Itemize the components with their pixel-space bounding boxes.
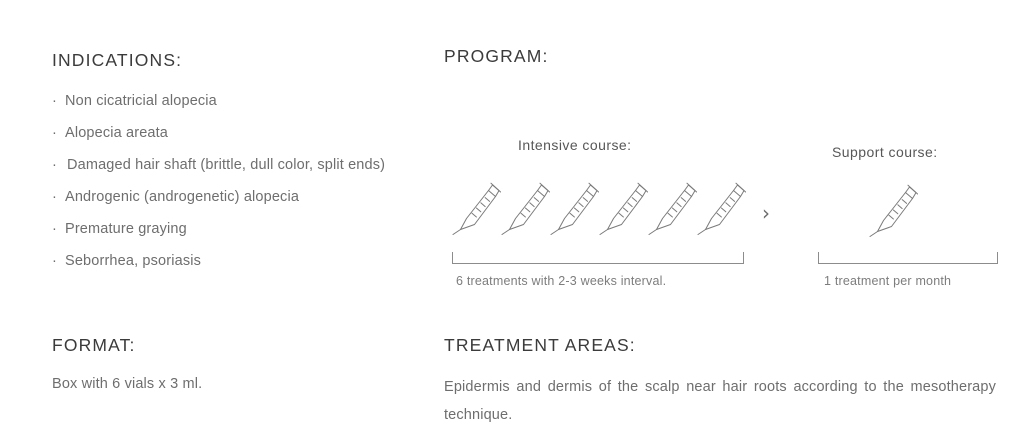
syringe-icon xyxy=(697,173,746,235)
bullet-dot-icon: · xyxy=(52,92,57,111)
indications-heading: INDICATIONS: xyxy=(52,52,397,70)
indications-list: · Non cicatricial alopecia · Alopecia ar… xyxy=(52,92,397,272)
slide-canvas: INDICATIONS: · Non cicatricial alopecia … xyxy=(0,0,1024,447)
support-syringe-group xyxy=(869,175,918,237)
list-item: · Androgenic (androgenetic) alopecia xyxy=(52,188,397,207)
bullet-dot-icon: · xyxy=(52,124,57,143)
format-text: Box with 6 vials x 3 ml. xyxy=(52,375,397,394)
syringe-icon xyxy=(501,173,550,235)
support-course-caption: 1 treatment per month xyxy=(824,274,951,288)
treatment-areas-heading: TREATMENT AREAS: xyxy=(444,337,996,355)
list-item: · Seborrhea, psoriasis xyxy=(52,252,397,271)
syringe-icon xyxy=(648,173,697,235)
intensive-course-caption: 6 treatments with 2-3 weeks interval. xyxy=(456,274,666,288)
program-diagram: Intensive course: Support course: xyxy=(444,76,996,291)
section-treatment-areas: TREATMENT AREAS: Epidermis and dermis of… xyxy=(444,337,996,429)
support-course-bracket xyxy=(818,252,998,264)
list-item-label: Seborrhea, psoriasis xyxy=(65,253,201,269)
list-item-label: Alopecia areata xyxy=(65,125,168,141)
bracket-bar xyxy=(452,263,744,264)
format-heading: FORMAT: xyxy=(52,337,397,355)
section-format: FORMAT: Box with 6 vials x 3 ml. xyxy=(52,337,397,394)
bracket-tick-right xyxy=(743,252,744,264)
support-course-label: Support course: xyxy=(832,144,938,160)
syringe-icon xyxy=(599,173,648,235)
treatment-areas-text: Epidermis and dermis of the scalp near h… xyxy=(444,373,996,430)
bullet-dot-icon: · xyxy=(52,252,57,271)
list-item: · Premature graying xyxy=(52,220,397,239)
bullet-dot-icon: · xyxy=(52,188,57,207)
list-item-label: Androgenic (androgenetic) alopecia xyxy=(65,189,299,205)
bullet-dot-icon: · xyxy=(52,220,57,239)
intensive-course-bracket xyxy=(452,252,744,264)
program-heading: PROGRAM: xyxy=(444,48,996,66)
list-item-label: Damaged hair shaft (brittle, dull color,… xyxy=(67,156,397,175)
list-item-label: Non cicatricial alopecia xyxy=(65,93,217,109)
list-item: · Damaged hair shaft (brittle, dull colo… xyxy=(52,156,397,175)
syringe-icon xyxy=(550,173,599,235)
bracket-bar xyxy=(818,263,998,264)
syringe-icon xyxy=(452,173,501,235)
bullet-dot-icon: · xyxy=(52,156,57,175)
list-item: · Non cicatricial alopecia xyxy=(52,92,397,111)
intensive-course-label: Intensive course: xyxy=(518,137,631,153)
list-item: · Alopecia areata xyxy=(52,124,397,143)
section-program: PROGRAM: Intensive course: Support cours… xyxy=(444,48,996,291)
bracket-tick-right xyxy=(997,252,998,264)
intensive-syringe-group xyxy=(452,173,746,235)
syringe-icon xyxy=(869,175,918,237)
list-item-label: Premature graying xyxy=(65,221,187,237)
course-separator-chevron-icon: › xyxy=(762,203,770,223)
section-indications: INDICATIONS: · Non cicatricial alopecia … xyxy=(52,52,397,271)
